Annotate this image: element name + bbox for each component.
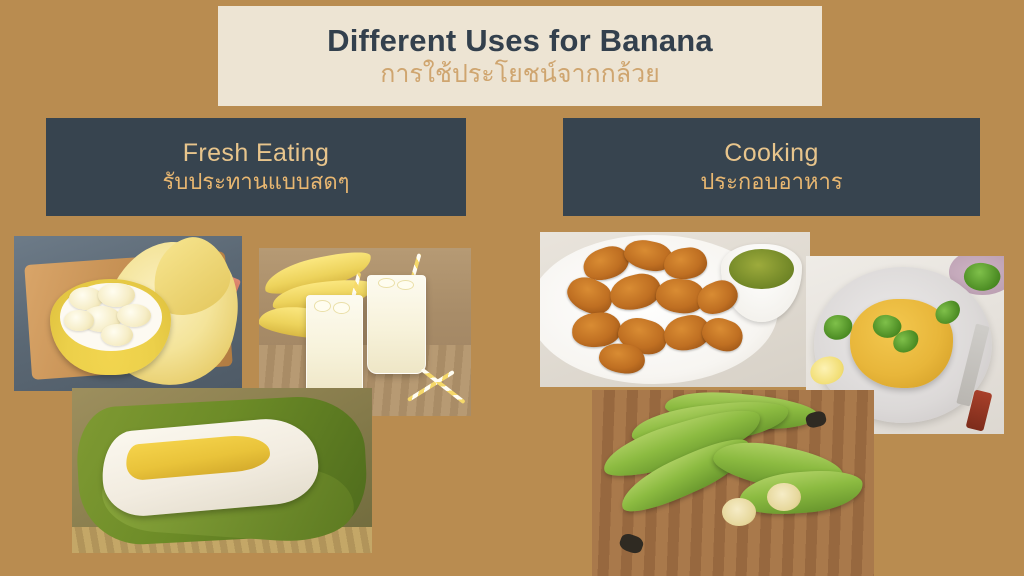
photo-banana-slices-bowl — [14, 236, 242, 391]
photo-fried-plantain-chips — [540, 232, 810, 387]
banana-slice — [64, 310, 94, 330]
green-dipping-sauce — [729, 249, 794, 289]
smoothie-glass — [367, 275, 426, 374]
section-title-english-cooking: Cooking — [724, 141, 819, 166]
section-header-cooking: Cooking ประกอบอาหาร — [563, 118, 980, 216]
photo-sticky-rice-banana-leaf — [72, 388, 372, 553]
plantain-cut-end — [767, 483, 801, 511]
plantain-cut-end — [722, 498, 756, 526]
page-title-english: Different Uses for Banana — [327, 25, 713, 58]
photo-green-plantains-board — [592, 390, 874, 576]
slide-canvas: Different Uses for Banana การใช้ประโยชน์… — [0, 0, 1024, 576]
title-panel: Different Uses for Banana การใช้ประโยชน์… — [218, 6, 822, 106]
banana-slice-garnish — [333, 302, 350, 314]
banana-slice-garnish — [397, 280, 414, 290]
page-title-thai: การใช้ประโยชน์จากกล้วย — [380, 60, 660, 88]
banana-slice-garnish — [314, 300, 331, 312]
section-title-thai-fresh-eating: รับประทานแบบสดๆ — [163, 172, 350, 194]
section-header-fresh-eating: Fresh Eating รับประทานแบบสดๆ — [46, 118, 466, 216]
section-title-english-fresh-eating: Fresh Eating — [183, 141, 330, 166]
section-title-thai-cooking: ประกอบอาหาร — [700, 172, 842, 194]
banana-slice — [101, 324, 133, 346]
